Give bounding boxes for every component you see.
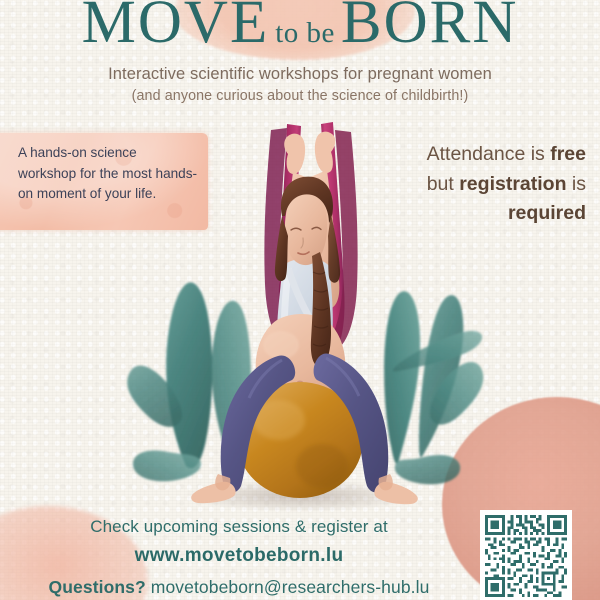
footer-questions-label: Questions? (49, 577, 146, 597)
subtitle-line-1: Interactive scientific workshops for pre… (108, 65, 492, 83)
registration-line-1: Attendance is free (346, 140, 586, 170)
registration-required-emphasis: required (508, 202, 586, 224)
registration-notice: Attendance is free but registration is r… (346, 140, 586, 229)
registration-line-2-prefix: but (427, 173, 460, 195)
registration-free-emphasis: free (550, 143, 586, 165)
pink-callout-text: A hands-on science workshop for the most… (18, 143, 198, 205)
title-word-born: BORN (341, 0, 518, 56)
footer-email-address[interactable]: movetobeborn@researchers-hub.lu (151, 577, 430, 597)
poster-title: MOVEto beBORN (0, 0, 600, 58)
title-word-move: MOVE (82, 0, 270, 56)
qr-code-graphic (485, 515, 567, 597)
poster-canvas: MOVEto beBORN Interactive scientific wor… (0, 0, 600, 600)
registration-line-1-prefix: Attendance is (427, 143, 551, 165)
title-connector-to-be: to be (269, 17, 341, 49)
registration-emphasis: registration (459, 173, 566, 195)
subtitle-line-2: (and anyone curious about the science of… (0, 89, 600, 103)
registration-line-2-suffix: is (567, 173, 587, 195)
poster-subtitle: Interactive scientific workshops for pre… (0, 66, 600, 103)
registration-line-2: but registration is (346, 170, 586, 200)
registration-line-3: required (346, 199, 586, 229)
qr-code[interactable] (480, 510, 572, 600)
